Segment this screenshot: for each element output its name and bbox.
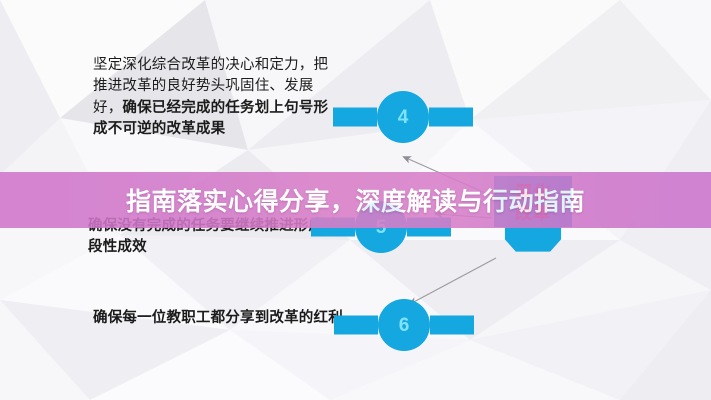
- slide-canvas: 坚定深化综合改革的决心和定力，把推进改革的良好势头巩固住、发展好，确保已经完成的…: [0, 0, 711, 400]
- page-title: 指南落实心得分享，深度解读与行动指南: [126, 182, 585, 218]
- badge-6-number: 6: [378, 299, 430, 351]
- step-badge-4[interactable]: 4: [333, 91, 473, 143]
- badge-6-bar-right: [430, 316, 474, 335]
- step-4-text-bold: 确保已经完成的任务划上句号形成不可逆的改革成果: [93, 100, 328, 137]
- step-4-text: 坚定深化综合改革的决心和定力，把推进改革的良好势头巩固住、发展好，确保已经完成的…: [93, 55, 341, 140]
- step-6-text: 确保每一位教职工都分享到改革的红利: [93, 308, 353, 329]
- badge-4-bar-right: [429, 108, 473, 127]
- badge-4-bar-left: [333, 108, 377, 127]
- step-6-text-bold: 确保每一位教职工都分享到改革的红利: [93, 310, 343, 326]
- title-overlay-band: 指南落实心得分享，深度解读与行动指南: [0, 172, 711, 228]
- badge-6-bar-left: [334, 316, 378, 335]
- arrow-core-to-step6: [410, 258, 496, 304]
- step-badge-6[interactable]: 6: [334, 299, 474, 351]
- badge-4-number: 4: [377, 91, 429, 143]
